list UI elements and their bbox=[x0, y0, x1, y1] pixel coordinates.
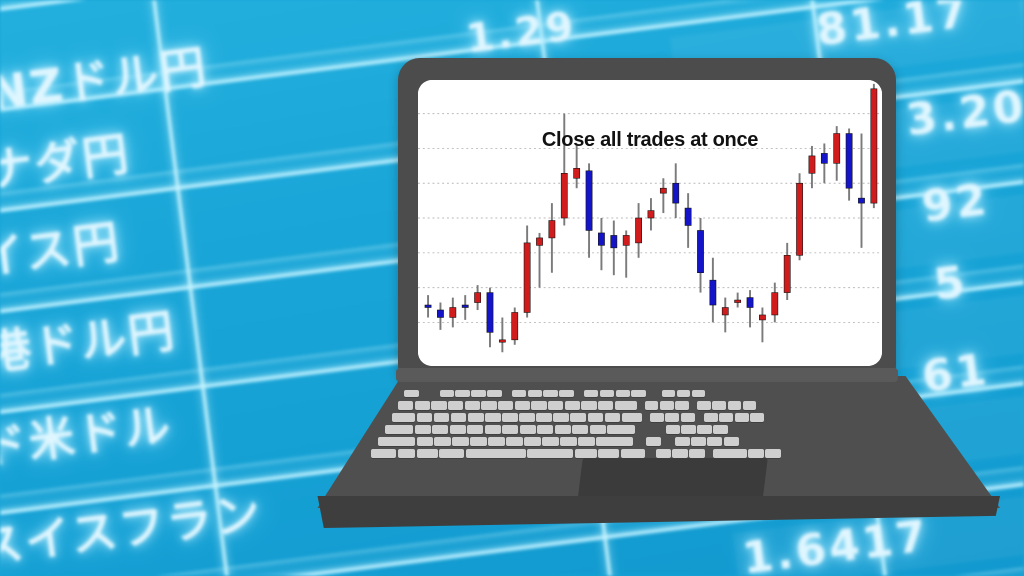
keyboard-key[interactable] bbox=[467, 425, 483, 434]
candle-body bbox=[474, 293, 480, 303]
candlestick bbox=[784, 243, 790, 300]
keyboard-key[interactable] bbox=[434, 413, 450, 422]
keyboard-key[interactable] bbox=[448, 401, 463, 410]
keyboard-key[interactable] bbox=[590, 425, 606, 434]
candlestick bbox=[574, 143, 580, 188]
keyboard-key[interactable] bbox=[450, 425, 466, 434]
keyboard-key[interactable] bbox=[572, 425, 588, 434]
keyboard-key[interactable] bbox=[704, 413, 718, 422]
candlestick bbox=[512, 308, 518, 345]
key-arrow-down[interactable] bbox=[672, 449, 687, 458]
keyboard-key[interactable] bbox=[555, 425, 571, 434]
keyboard-key[interactable] bbox=[537, 425, 553, 434]
keyboard-key[interactable] bbox=[528, 390, 542, 397]
candle-body bbox=[623, 235, 629, 245]
candlestick bbox=[735, 293, 741, 308]
candle-body bbox=[784, 255, 790, 292]
keyboard-key[interactable] bbox=[743, 401, 757, 410]
candlestick bbox=[673, 163, 679, 218]
candlestick bbox=[561, 114, 567, 226]
candle-body bbox=[809, 156, 815, 173]
keyboard-key[interactable] bbox=[524, 437, 541, 446]
candlestick bbox=[425, 295, 431, 317]
candle-body bbox=[673, 183, 679, 203]
candle-body bbox=[697, 230, 703, 272]
candlestick bbox=[685, 193, 691, 248]
laptop-screen: Close all trades at once bbox=[418, 80, 882, 366]
keyboard-key[interactable] bbox=[468, 413, 484, 422]
keyboard-key[interactable] bbox=[452, 437, 469, 446]
candle-body bbox=[574, 168, 580, 178]
candlestick bbox=[598, 218, 604, 270]
keyboard-key[interactable] bbox=[519, 413, 535, 422]
candlestick bbox=[722, 298, 728, 333]
keyboard-key[interactable] bbox=[675, 401, 689, 410]
candle-body bbox=[722, 308, 728, 315]
candlestick bbox=[858, 134, 864, 248]
candlestick bbox=[747, 290, 753, 327]
keyboard-key[interactable] bbox=[645, 401, 659, 410]
keyboard-key[interactable] bbox=[417, 413, 433, 422]
key-tab[interactable] bbox=[392, 413, 415, 422]
key-alt-left[interactable] bbox=[417, 449, 438, 458]
laptop: Close all trades at once bbox=[300, 40, 1000, 560]
keyboard-key[interactable] bbox=[415, 401, 430, 410]
keyboard-key[interactable] bbox=[502, 425, 518, 434]
candle-body bbox=[536, 238, 542, 245]
keyboard-key[interactable] bbox=[415, 425, 431, 434]
keyboard-key[interactable] bbox=[434, 437, 451, 446]
candle-body bbox=[710, 280, 716, 305]
candle-body bbox=[871, 89, 877, 203]
candlestick-chart[interactable] bbox=[418, 80, 882, 366]
candlestick bbox=[474, 285, 480, 310]
keyboard-key[interactable] bbox=[631, 390, 645, 397]
keyboard-key[interactable] bbox=[432, 425, 448, 434]
laptop-base bbox=[300, 376, 1000, 536]
key-space[interactable] bbox=[466, 449, 526, 458]
keyboard-key[interactable] bbox=[681, 413, 695, 422]
keyboard-key[interactable] bbox=[542, 437, 559, 446]
keyboard-key[interactable] bbox=[750, 413, 764, 422]
key-ctrl-left[interactable] bbox=[371, 449, 396, 458]
candlestick bbox=[772, 283, 778, 323]
keyboard-key[interactable] bbox=[565, 401, 580, 410]
keyboard-key[interactable] bbox=[440, 390, 454, 397]
candlestick bbox=[710, 258, 716, 323]
keyboard-key[interactable] bbox=[520, 425, 536, 434]
keyboard-key[interactable] bbox=[588, 413, 604, 422]
key-arrow-left[interactable] bbox=[656, 449, 671, 458]
keyboard-key[interactable] bbox=[553, 413, 569, 422]
keyboard-key[interactable] bbox=[485, 413, 501, 422]
keyboard-key[interactable] bbox=[719, 413, 733, 422]
keyboard-key[interactable] bbox=[598, 401, 613, 410]
keyboard-key[interactable] bbox=[681, 425, 696, 434]
keyboard-key[interactable] bbox=[728, 401, 742, 410]
keyboard-key[interactable] bbox=[662, 390, 675, 397]
candlestick bbox=[697, 218, 703, 293]
candle-body bbox=[462, 305, 468, 307]
candlestick bbox=[623, 230, 629, 277]
candle-body bbox=[499, 340, 505, 342]
candlestick bbox=[759, 308, 765, 343]
key-shift-right[interactable] bbox=[596, 437, 633, 446]
keyboard-key[interactable] bbox=[431, 401, 446, 410]
candle-body bbox=[635, 218, 641, 243]
keyboard-key[interactable] bbox=[548, 401, 563, 410]
laptop-lid: Close all trades at once bbox=[398, 58, 896, 388]
candle-body bbox=[598, 233, 604, 245]
key-arrow-up[interactable] bbox=[646, 437, 661, 446]
candle-body bbox=[834, 134, 840, 164]
key-alt-right[interactable] bbox=[598, 449, 619, 458]
keyboard-key[interactable] bbox=[515, 401, 530, 410]
keyboard-key[interactable] bbox=[697, 425, 712, 434]
keyboard-key[interactable] bbox=[487, 390, 501, 397]
candle-body bbox=[648, 211, 654, 218]
candlestick bbox=[871, 84, 877, 208]
candle-body bbox=[586, 171, 592, 231]
candle-body bbox=[611, 235, 617, 247]
candle-body bbox=[821, 153, 827, 163]
candle-body bbox=[437, 310, 443, 317]
candle-body bbox=[524, 243, 530, 313]
keyboard-key[interactable] bbox=[527, 449, 573, 458]
keyboard-key[interactable] bbox=[660, 401, 674, 410]
candle-body bbox=[735, 300, 741, 302]
keyboard-key[interactable] bbox=[713, 425, 728, 434]
candle-body bbox=[549, 221, 555, 238]
candle-body bbox=[450, 308, 456, 318]
keyboard-key[interactable] bbox=[584, 390, 598, 397]
candlestick bbox=[635, 203, 641, 258]
candlestick bbox=[462, 295, 468, 320]
keyboard-key[interactable] bbox=[692, 390, 705, 397]
keyboard-key[interactable] bbox=[471, 390, 485, 397]
candlestick bbox=[611, 221, 617, 276]
keyboard-key[interactable] bbox=[675, 437, 690, 446]
key-ctrl-right[interactable] bbox=[621, 449, 646, 458]
candle-body bbox=[796, 183, 802, 255]
keyboard-key[interactable] bbox=[559, 390, 573, 397]
candle-body bbox=[660, 188, 666, 193]
keyboard-key[interactable] bbox=[697, 401, 711, 410]
keyboard-key[interactable] bbox=[605, 413, 621, 422]
keyboard-key[interactable] bbox=[455, 390, 469, 397]
keyboard-key[interactable] bbox=[398, 401, 413, 410]
keyboard-key[interactable] bbox=[506, 437, 523, 446]
keyboard-key[interactable] bbox=[707, 437, 722, 446]
keyboard-key[interactable] bbox=[502, 413, 518, 422]
candlestick bbox=[821, 143, 827, 183]
keyboard-key[interactable] bbox=[735, 413, 749, 422]
candlestick bbox=[834, 126, 840, 181]
key-numpad-enter[interactable] bbox=[765, 449, 780, 458]
keyboard-key[interactable] bbox=[470, 437, 487, 446]
key-numpad-0[interactable] bbox=[713, 449, 747, 458]
laptop-front-edge bbox=[300, 496, 1000, 528]
candlestick bbox=[846, 129, 852, 201]
candlestick bbox=[549, 203, 555, 273]
keyboard-key[interactable] bbox=[488, 437, 505, 446]
candlestick bbox=[586, 163, 592, 257]
keyboard-key[interactable] bbox=[581, 401, 596, 410]
candle-body bbox=[512, 312, 518, 339]
candlestick bbox=[796, 173, 802, 260]
keyboard-key[interactable] bbox=[451, 413, 467, 422]
candlestick bbox=[437, 303, 443, 330]
keyboard-key[interactable] bbox=[417, 437, 434, 446]
keyboard-key[interactable] bbox=[691, 437, 706, 446]
keyboard-key[interactable] bbox=[498, 401, 513, 410]
key-esc[interactable] bbox=[404, 390, 420, 397]
key-backspace[interactable] bbox=[615, 401, 637, 410]
key-fn[interactable] bbox=[398, 449, 416, 458]
keyboard-key[interactable] bbox=[570, 413, 586, 422]
keyboard-key[interactable] bbox=[677, 390, 690, 397]
keyboard-key[interactable] bbox=[485, 425, 501, 434]
candlestick bbox=[648, 198, 654, 230]
candlestick bbox=[536, 233, 542, 288]
keyboard-key[interactable] bbox=[665, 413, 679, 422]
key-capslock[interactable] bbox=[385, 425, 413, 434]
keyboard-key[interactable] bbox=[465, 401, 480, 410]
keyboard-key[interactable] bbox=[531, 401, 546, 410]
candle-body bbox=[858, 198, 864, 203]
candle-body bbox=[772, 293, 778, 315]
candle-body bbox=[425, 305, 431, 307]
keyboard-key[interactable] bbox=[578, 437, 595, 446]
keyboard-key[interactable] bbox=[666, 425, 681, 434]
keyboard-key[interactable] bbox=[650, 413, 664, 422]
keyboard-key[interactable] bbox=[481, 401, 496, 410]
keyboard-key[interactable] bbox=[724, 437, 739, 446]
candle-body bbox=[759, 315, 765, 320]
key-arrow-right[interactable] bbox=[689, 449, 704, 458]
candlestick bbox=[487, 288, 493, 348]
keyboard-key[interactable] bbox=[536, 413, 552, 422]
key-enter[interactable] bbox=[607, 425, 635, 434]
candle-body bbox=[846, 134, 852, 189]
key-enter[interactable] bbox=[622, 413, 642, 422]
keyboard-key[interactable] bbox=[600, 390, 614, 397]
candlestick-chart-svg bbox=[418, 80, 882, 366]
keyboard-key[interactable] bbox=[439, 449, 464, 458]
keyboard-key[interactable] bbox=[512, 390, 526, 397]
keyboard-key[interactable] bbox=[560, 437, 577, 446]
keyboard-key[interactable] bbox=[616, 390, 630, 397]
key-numpad-dot[interactable] bbox=[748, 449, 763, 458]
candlestick bbox=[450, 298, 456, 328]
key-shift-left[interactable] bbox=[378, 437, 415, 446]
candle-body bbox=[685, 208, 691, 225]
candle-body bbox=[487, 293, 493, 333]
keyboard-key[interactable] bbox=[712, 401, 726, 410]
candle-body bbox=[561, 173, 567, 218]
candlestick bbox=[524, 225, 530, 317]
key-win[interactable] bbox=[575, 449, 597, 458]
candlestick bbox=[809, 146, 815, 188]
keyboard-key[interactable] bbox=[543, 390, 557, 397]
candle-body bbox=[747, 298, 753, 308]
